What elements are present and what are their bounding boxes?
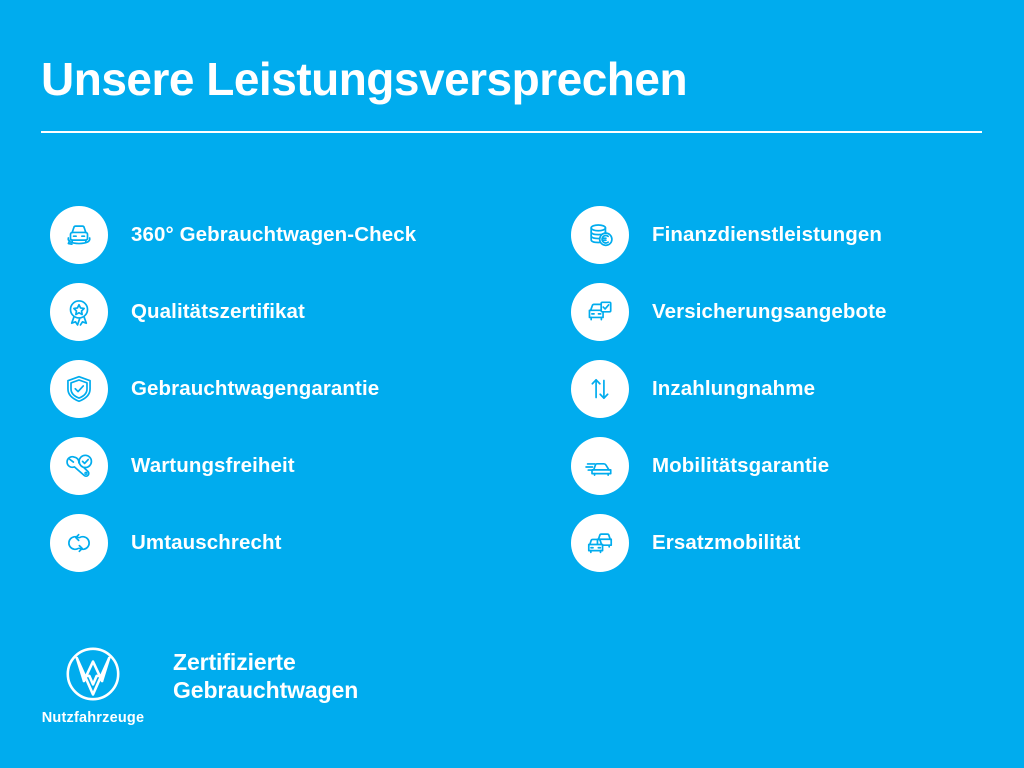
promise-label: Ersatzmobilität bbox=[652, 531, 800, 555]
car-360-check-icon bbox=[50, 206, 108, 264]
promise-item-mobilitaetsgarantie[interactable]: Mobilitätsgarantie bbox=[571, 427, 1011, 504]
title-divider bbox=[41, 131, 982, 133]
promise-label: Mobilitätsgarantie bbox=[652, 454, 829, 478]
car-motion-icon bbox=[571, 437, 629, 495]
promises-column-right: Finanzdienstleistungen Versicherungsange… bbox=[571, 196, 1011, 581]
promise-label: Umtauschrecht bbox=[131, 531, 282, 555]
wrench-check-icon bbox=[50, 437, 108, 495]
award-rosette-icon bbox=[50, 283, 108, 341]
brand-sub-label: Nutzfahrzeuge bbox=[41, 710, 145, 726]
promise-item-umtauschrecht[interactable]: Umtauschrecht bbox=[50, 504, 520, 581]
promise-item-inzahlungnahme[interactable]: Inzahlungnahme bbox=[571, 350, 1011, 427]
promise-item-finanzdienstleistungen[interactable]: Finanzdienstleistungen bbox=[571, 196, 1011, 273]
promise-item-wartungsfreiheit[interactable]: Wartungsfreiheit bbox=[50, 427, 520, 504]
slide-root: Unsere Leistungsversprechen 360° Gebrauc… bbox=[0, 0, 1024, 768]
promise-label: Gebrauchtwagengarantie bbox=[131, 377, 379, 401]
volkswagen-logo: Nutzfahrzeuge bbox=[41, 640, 145, 726]
promise-item-versicherungsangebote[interactable]: Versicherungsangebote bbox=[571, 273, 1011, 350]
promise-item-gebrauchtwagengarantie[interactable]: Gebrauchtwagengarantie bbox=[50, 350, 520, 427]
promise-label: Wartungsfreiheit bbox=[131, 454, 295, 478]
promise-item-qualitaetszertifikat[interactable]: Qualitätszertifikat bbox=[50, 273, 520, 350]
promise-label: Finanzdienstleistungen bbox=[652, 223, 882, 247]
two-cars-icon bbox=[571, 514, 629, 572]
promise-item-ersatzmobilitaet[interactable]: Ersatzmobilität bbox=[571, 504, 1011, 581]
promise-item-360-check[interactable]: 360° Gebrauchtwagen-Check bbox=[50, 196, 520, 273]
brand-claim-line-1: Zertifizierte bbox=[173, 648, 358, 676]
car-document-check-icon bbox=[571, 283, 629, 341]
promise-label: Versicherungsangebote bbox=[652, 300, 887, 324]
page-title: Unsere Leistungsversprechen bbox=[41, 52, 687, 106]
shield-check-icon bbox=[50, 360, 108, 418]
brand-lockup: Nutzfahrzeuge Zertifizierte Gebrauchtwag… bbox=[41, 640, 358, 726]
promise-label: Inzahlungnahme bbox=[652, 377, 815, 401]
brand-claim: Zertifizierte Gebrauchtwagen bbox=[173, 648, 358, 704]
promises-column-left: 360° Gebrauchtwagen-Check Qualitätszerti… bbox=[50, 196, 520, 581]
coins-euro-icon bbox=[571, 206, 629, 264]
exchange-arrows-icon bbox=[50, 514, 108, 572]
arrows-up-down-icon bbox=[571, 360, 629, 418]
brand-claim-line-2: Gebrauchtwagen bbox=[173, 676, 358, 704]
promise-label: 360° Gebrauchtwagen-Check bbox=[131, 223, 416, 247]
promise-label: Qualitätszertifikat bbox=[131, 300, 305, 324]
